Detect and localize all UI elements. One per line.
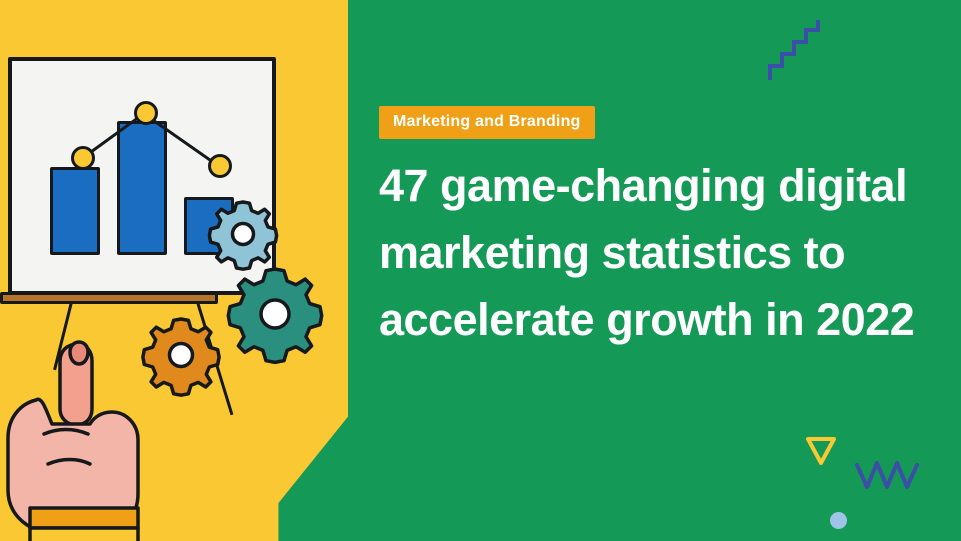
zigzag-top-right-icon xyxy=(766,20,828,82)
chart-point-3 xyxy=(208,154,232,178)
chart-point-2 xyxy=(134,101,158,125)
dot-grid-icon xyxy=(163,482,267,541)
chart-bar-2 xyxy=(117,121,167,255)
page-title: 47 game-changing digital marketing stati… xyxy=(379,152,939,353)
zigzag-bottom-right-icon xyxy=(855,455,925,495)
circle-decoration xyxy=(830,512,847,529)
slide-canvas: Marketing and Branding 47 game-changing … xyxy=(0,0,961,541)
chart-point-1 xyxy=(71,146,95,170)
category-tag: Marketing and Branding xyxy=(379,106,595,139)
whiteboard-ledge xyxy=(0,292,218,304)
chart-bar-1 xyxy=(50,167,100,255)
triangle-icon xyxy=(806,437,836,465)
gear-teal-icon xyxy=(222,261,328,367)
pointing-hand-illustration xyxy=(0,330,170,541)
